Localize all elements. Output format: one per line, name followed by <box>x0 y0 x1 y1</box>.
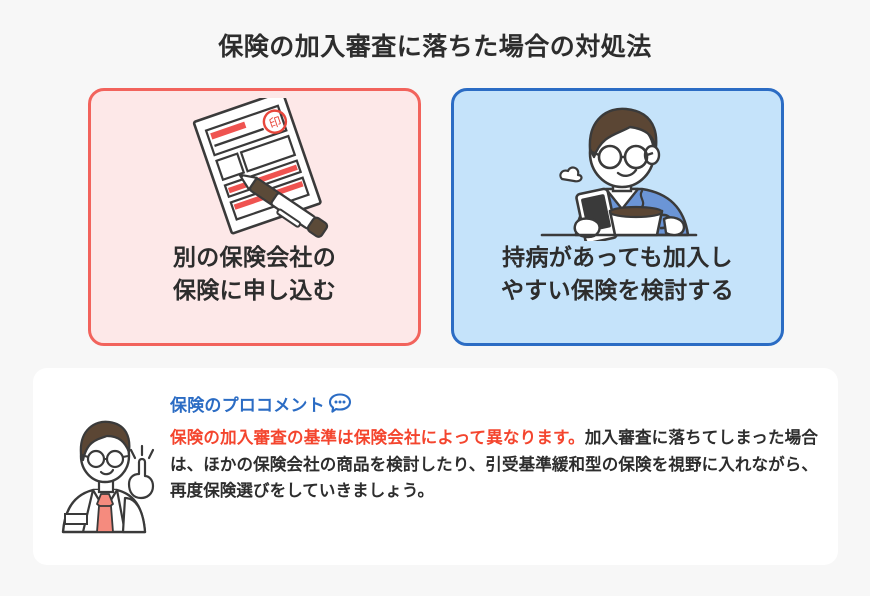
card-other-insurer[interactable]: 印 別の保険会社の 保険に申し込む <box>88 88 421 346</box>
options-card-row: 印 別の保険会社の 保険に申し込む <box>88 88 784 346</box>
card-label-line2: やすい保険を検討する <box>501 274 734 307</box>
pro-comment-panel: 保険のプロコメント 保険の加入審査の基準は保険会社によって異なります。加入審査に… <box>33 368 838 565</box>
card-easy-underwriting[interactable]: 持病があっても加入し やすい保険を検討する <box>451 88 784 346</box>
card-label-other-insurer: 別の保険会社の 保険に申し込む <box>173 241 336 306</box>
pro-comment-heading: 保険のプロコメント <box>170 390 818 416</box>
application-form-and-pen-illustration: 印 <box>91 91 418 241</box>
pro-comment-text: 保険の加入審査の基準は保険会社によって異なります。加入審査に落ちてしまった場合は… <box>170 425 818 505</box>
pro-comment-highlight: 保険の加入審査の基準は保険会社によって異なります。 <box>170 429 585 447</box>
card-label-easy-underwriting: 持病があっても加入し やすい保険を検討する <box>501 241 734 306</box>
speech-bubble-icon <box>328 392 352 414</box>
pro-comment-body: 保険のプロコメント 保険の加入審査の基準は保険会社によって異なります。加入審査に… <box>170 390 818 505</box>
pro-comment-heading-label: 保険のプロコメント <box>170 391 325 416</box>
card-label-line2: 保険に申し込む <box>173 274 336 307</box>
card-label-line1: 持病があっても加入し <box>501 241 734 274</box>
card-label-line1: 別の保険会社の <box>173 241 336 274</box>
page-title: 保険の加入審査に落ちた場合の対処法 <box>0 27 870 63</box>
person-with-smartphone-and-coffee-illustration <box>454 91 781 241</box>
insurance-expert-avatar <box>53 414 171 534</box>
